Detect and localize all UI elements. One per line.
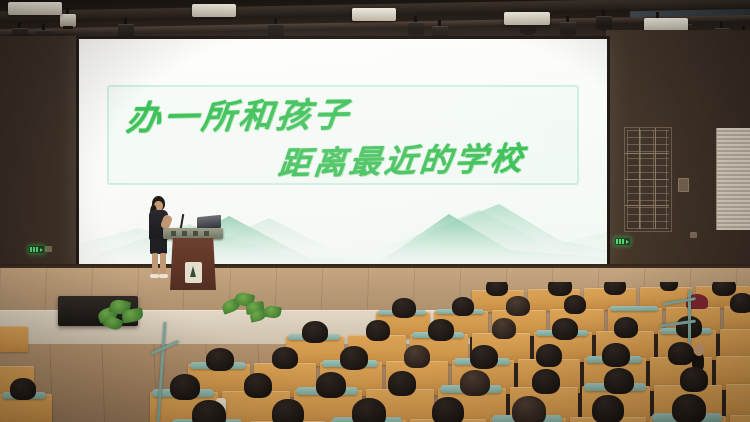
auditorium-photograph: 办一所和孩子 距离最近的学校 [0,0,750,422]
wall-outlet[interactable] [45,246,52,252]
seat-partial [0,326,28,352]
podium [165,228,221,290]
slide-title-line2: 距离最近的学校 [276,133,528,184]
school-crest-icon [185,262,202,283]
spotlight-icon [596,10,612,30]
audience-seating [0,282,750,422]
slide-title-line1: 办一所和孩子 [124,87,354,140]
podium-top [163,228,223,239]
podium-nameplate [171,231,211,236]
wall-control-plate[interactable] [678,178,689,192]
softbox-light-icon [352,8,396,21]
presenter-shoe [150,274,159,278]
wall-outlet[interactable] [690,232,697,238]
softbox-light-icon [504,12,550,25]
exit-sign-icon [614,237,631,246]
spotlight-icon [408,16,424,36]
spotlight-icon [60,8,76,28]
presenter-leg [152,253,158,276]
spotlight-icon [268,18,284,38]
softbox-light-icon [8,2,62,15]
audience-head [10,378,36,400]
spotlight-icon [560,16,576,36]
exit-sign-icon [28,245,45,254]
spotlight-icon [118,18,134,38]
wall-grille-panel [624,127,672,232]
acoustic-slat-panel [716,128,750,230]
softbox-light-icon [192,4,236,17]
